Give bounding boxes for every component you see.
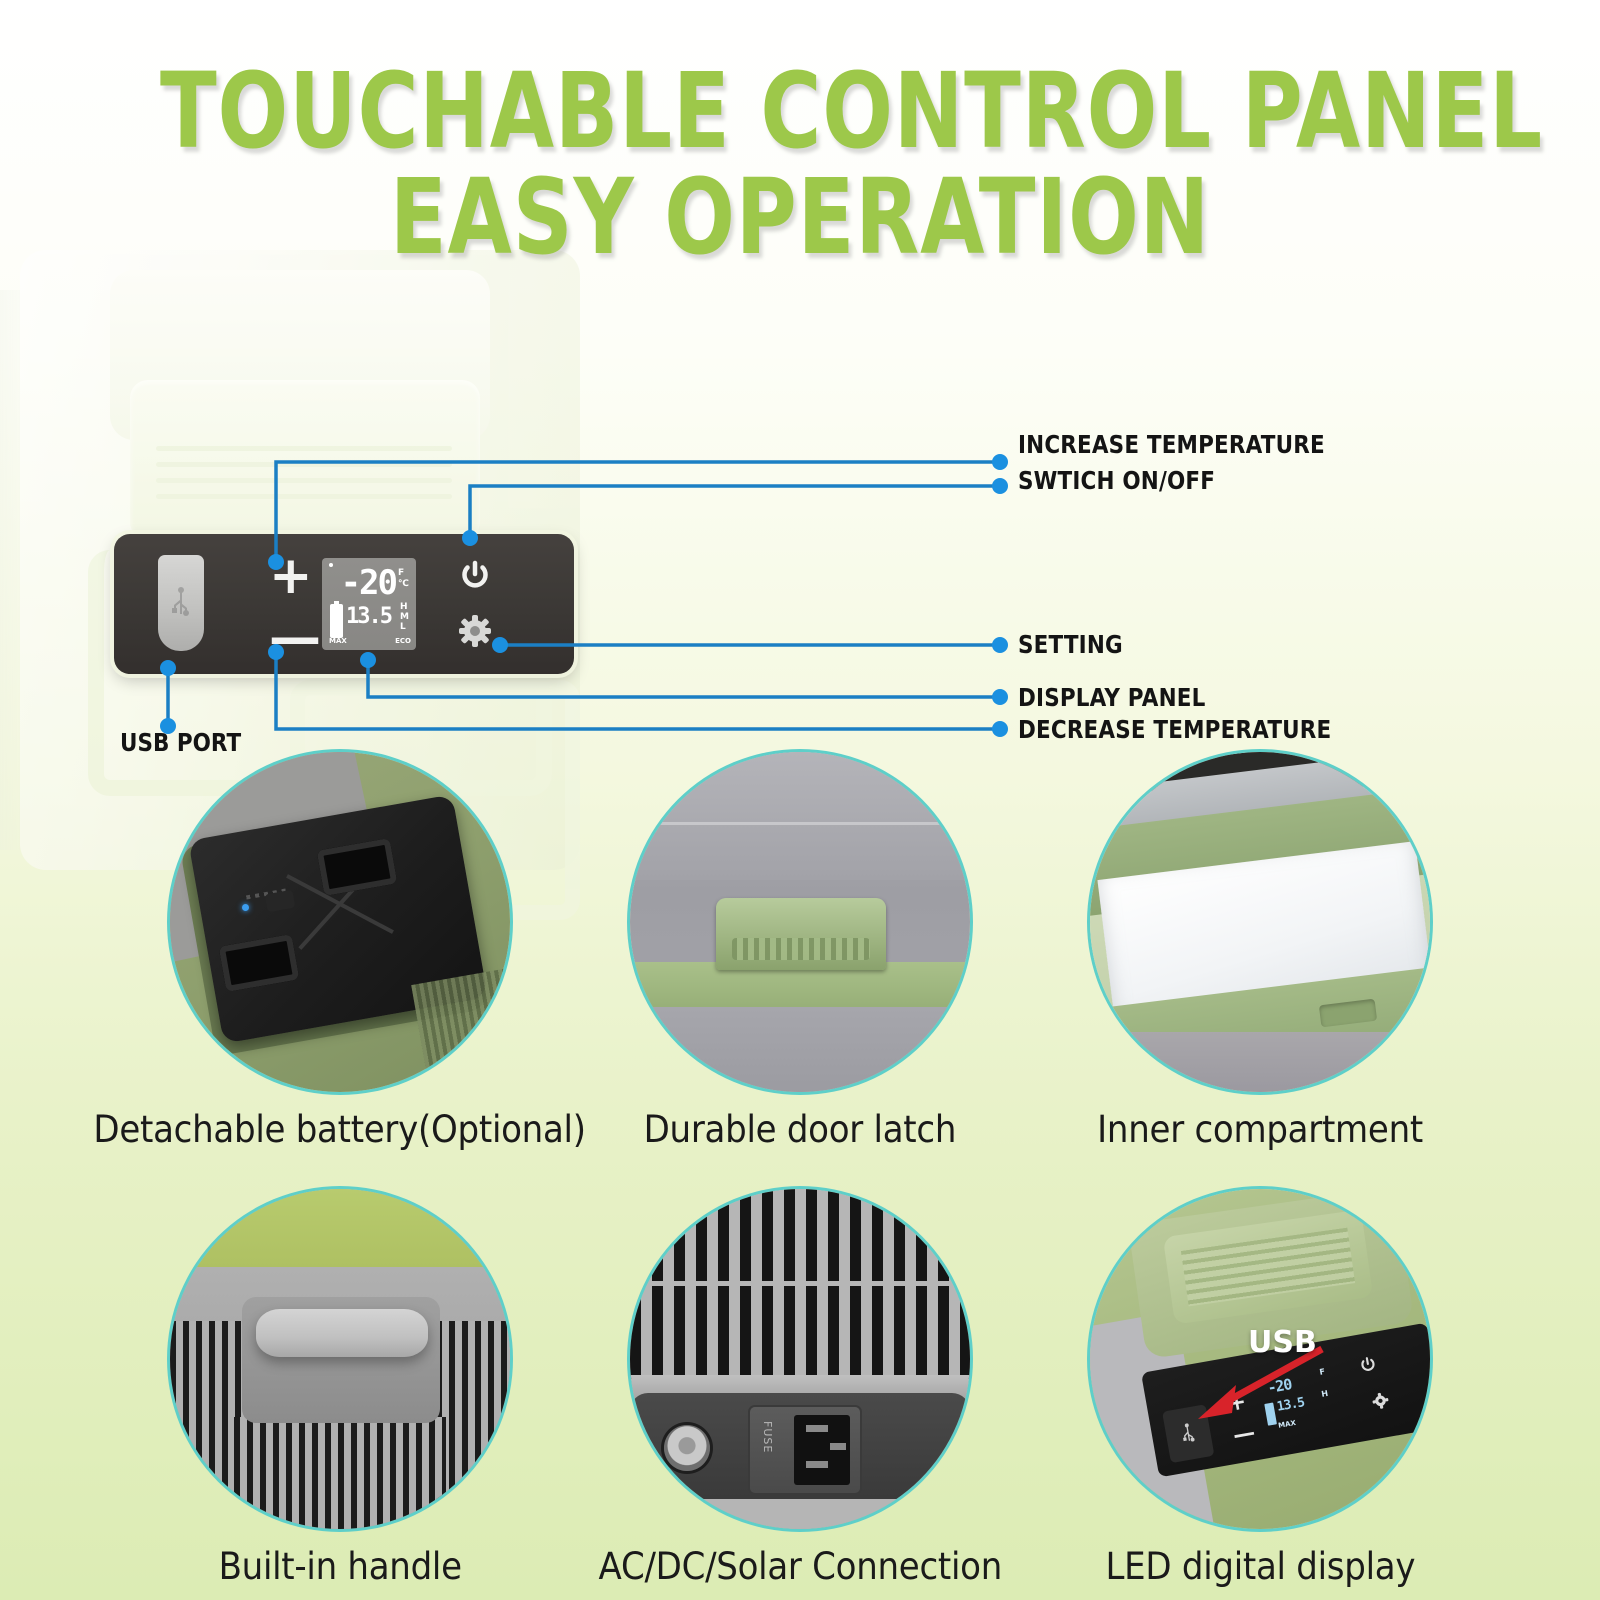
leader-dot-decrease-origin: [268, 644, 284, 660]
vent-grille-right: [436, 1321, 510, 1529]
headline-line-1: TOUCHABLE CONTROL PANEL: [160, 62, 1440, 162]
leader-dot-display-end: [992, 689, 1008, 705]
thumbnail-ac-dc-solar-connection[interactable]: FUSE: [630, 1189, 970, 1529]
leader-dot-switch-origin: [462, 530, 478, 546]
base-surface: [630, 1499, 970, 1529]
built-in-handle-grip[interactable]: [256, 1309, 428, 1357]
ac-pin: [806, 1425, 828, 1432]
dc-input-jack[interactable]: [664, 1425, 710, 1471]
leader-dot-decrease-end: [992, 721, 1008, 737]
callout-label-switch-on-off: SWTICH ON/OFF: [1018, 466, 1215, 495]
leader-dot-increase-end: [992, 454, 1008, 470]
callout-label-increase-temperature: INCREASE TEMPERATURE: [1018, 430, 1325, 459]
usb-annotation-label: USB: [1248, 1325, 1317, 1360]
base-surface: [1090, 1032, 1430, 1092]
green-lid-edge: [170, 1189, 510, 1269]
feature-led-digital-display[interactable]: + — -20 F 13.5 H MAX: [1082, 1189, 1438, 1588]
thumbnail-led-digital-display[interactable]: + — -20 F 13.5 H MAX: [1090, 1189, 1430, 1529]
leader-switch-on-off: [470, 486, 1000, 538]
ac-inlet-socket[interactable]: FUSE: [750, 1407, 860, 1493]
ac-pin: [830, 1443, 846, 1450]
vent-divider: [630, 1281, 970, 1286]
door-latch[interactable]: [716, 898, 886, 970]
leader-dot-display-origin: [360, 652, 376, 668]
feature-caption-ac-dc-solar-connection: AC/DC/Solar Connection: [598, 1545, 1001, 1588]
lower-body: [630, 1007, 970, 1092]
power-button[interactable]: [1353, 1349, 1383, 1379]
callout-label-decrease-temperature: DECREASE TEMPERATURE: [1018, 715, 1331, 744]
feature-grid: Detachable battery(Optional) Durable doo…: [0, 752, 1600, 1588]
thumbnail-built-in-handle[interactable]: [170, 1189, 510, 1529]
feature-caption-led-digital-display: LED digital display: [1105, 1545, 1415, 1588]
feature-built-in-handle[interactable]: Built-in handle: [162, 1189, 518, 1588]
vent-grille: [411, 969, 510, 1092]
leader-dot-increase-origin: [268, 554, 284, 570]
vent-grille-bottom: [234, 1417, 446, 1529]
leader-dot-setting-origin: [492, 637, 508, 653]
leader-dot-setting-end: [992, 637, 1008, 653]
ac-pin: [806, 1461, 828, 1468]
leader-decrease-temperature: [276, 652, 1000, 729]
callout-label-setting: SETTING: [1018, 630, 1123, 659]
leader-increase-temperature: [276, 462, 1000, 562]
leader-dot-usb-origin: [160, 660, 176, 676]
feature-caption-durable-door-latch: Durable door latch: [644, 1108, 957, 1151]
lid-seam: [630, 822, 970, 825]
headline-line-2: EASY OPERATION: [160, 168, 1440, 268]
power-icon: [1358, 1354, 1379, 1375]
headline: TOUCHABLE CONTROL PANEL EASY OPERATION: [0, 62, 1600, 268]
infographic-canvas: TOUCHABLE CONTROL PANEL EASY OPERATION +…: [0, 0, 1600, 1600]
feature-caption-inner-compartment: Inner compartment: [1097, 1108, 1423, 1151]
battery-power-led: [242, 904, 249, 911]
gear-icon: [1370, 1390, 1391, 1411]
setting-button[interactable]: [1365, 1386, 1395, 1416]
feature-ac-dc-solar-connection[interactable]: FUSE AC/DC/Solar Connection: [622, 1189, 978, 1588]
feature-row-2: Built-in handle FUSE: [0, 1189, 1600, 1588]
leader-display-panel: [368, 660, 1000, 697]
vent-grille-left: [170, 1321, 244, 1529]
callout-label-usb-port: USB PORT: [120, 728, 241, 757]
feature-caption-built-in-handle: Built-in handle: [218, 1545, 461, 1588]
fuse-label: FUSE: [758, 1421, 774, 1479]
leader-dot-switch-end: [992, 478, 1008, 494]
feature-caption-detachable-battery: Detachable battery(Optional): [94, 1108, 586, 1151]
callout-label-display-panel: DISPLAY PANEL: [1018, 683, 1205, 712]
